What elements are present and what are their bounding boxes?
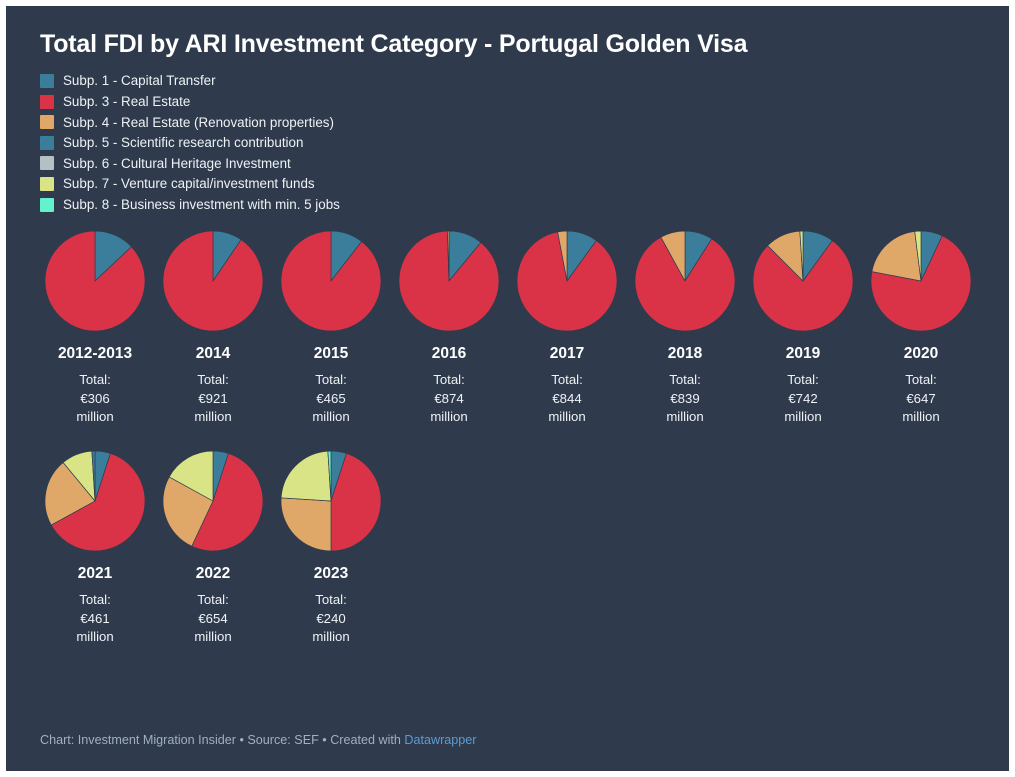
pie-year-label: 2015 [272,345,390,364]
pie-cell: 2017Total: €844 million [508,229,626,427]
pie-chart [397,229,501,333]
legend-label: Subp. 5 - Scientific research contributi… [63,136,303,149]
legend-swatch-icon [40,95,54,109]
pie-total-label: Total: €844 million [508,371,626,427]
pie-chart [633,229,737,333]
pie-year-label: 2019 [744,345,862,364]
pie-chart [161,449,265,553]
pie-year-label: 2018 [626,345,744,364]
pie-cell: 2018Total: €839 million [626,229,744,427]
footer-credit-text: Chart: Investment Migration Insider • So… [40,733,404,747]
legend-swatch-icon [40,74,54,88]
pie-total-label: Total: €647 million [862,371,980,427]
legend-label: Subp. 3 - Real Estate [63,95,190,108]
pie-cell: 2023Total: €240 million [272,449,390,647]
legend-swatch-icon [40,177,54,191]
pie-year-label: 2016 [390,345,508,364]
pie-total-label: Total: €306 million [36,371,154,427]
pie-cell: 2020Total: €647 million [862,229,980,427]
pie-cell: 2021Total: €461 million [36,449,154,647]
pie-slice[interactable] [163,231,263,331]
legend-label: Subp. 1 - Capital Transfer [63,74,216,87]
pie-total-label: Total: €465 million [272,371,390,427]
legend-label: Subp. 6 - Cultural Heritage Investment [63,157,291,170]
legend-item[interactable]: Subp. 3 - Real Estate [40,91,981,112]
legend-swatch-icon [40,115,54,129]
chart-legend: Subp. 1 - Capital TransferSubp. 3 - Real… [40,71,981,215]
chart-title: Total FDI by ARI Investment Category - P… [40,30,981,59]
pie-year-label: 2020 [862,345,980,364]
pie-total-label: Total: €874 million [390,371,508,427]
chart-footer: Chart: Investment Migration Insider • So… [40,733,477,747]
pie-slice[interactable] [281,498,331,551]
legend-label: Subp. 4 - Real Estate (Renovation proper… [63,116,334,129]
pie-chart [161,229,265,333]
pie-chart [43,449,147,553]
pie-year-label: 2023 [272,565,390,584]
datawrapper-link[interactable]: Datawrapper [404,733,476,747]
pie-total-label: Total: €240 million [272,591,390,647]
pie-year-label: 2014 [154,345,272,364]
legend-swatch-icon [40,198,54,212]
pie-total-label: Total: €921 million [154,371,272,427]
pie-cell: 2022Total: €654 million [154,449,272,647]
pie-cell: 2012-2013Total: €306 million [36,229,154,427]
legend-item[interactable]: Subp. 4 - Real Estate (Renovation proper… [40,112,981,133]
pie-cell: 2014Total: €921 million [154,229,272,427]
pie-chart [43,229,147,333]
pie-year-label: 2017 [508,345,626,364]
pie-total-label: Total: €461 million [36,591,154,647]
legend-item[interactable]: Subp. 1 - Capital Transfer [40,71,981,92]
pie-chart [515,229,619,333]
legend-item[interactable]: Subp. 7 - Venture capital/investment fun… [40,174,981,195]
pie-cell: 2016Total: €874 million [390,229,508,427]
legend-label: Subp. 7 - Venture capital/investment fun… [63,177,315,190]
pie-chart [869,229,973,333]
legend-swatch-icon [40,136,54,150]
pie-grid: 2012-2013Total: €306 million2014Total: €… [36,229,981,647]
pie-row-2: 2021Total: €461 million2022Total: €654 m… [36,449,981,647]
pie-row-1: 2012-2013Total: €306 million2014Total: €… [36,229,981,427]
legend-item[interactable]: Subp. 6 - Cultural Heritage Investment [40,153,981,174]
pie-year-label: 2012-2013 [36,345,154,364]
pie-total-label: Total: €654 million [154,591,272,647]
pie-chart [279,449,383,553]
pie-year-label: 2021 [36,565,154,584]
pie-chart [751,229,855,333]
pie-total-label: Total: €839 million [626,371,744,427]
chart-container: Total FDI by ARI Investment Category - P… [0,0,1015,777]
legend-label: Subp. 8 - Business investment with min. … [63,198,340,211]
pie-cell: 2015Total: €465 million [272,229,390,427]
pie-slice[interactable] [281,231,381,331]
pie-chart [279,229,383,333]
pie-year-label: 2022 [154,565,272,584]
pie-slice[interactable] [281,451,331,501]
pie-cell: 2019Total: €742 million [744,229,862,427]
legend-swatch-icon [40,156,54,170]
legend-item[interactable]: Subp. 5 - Scientific research contributi… [40,133,981,154]
legend-item[interactable]: Subp. 8 - Business investment with min. … [40,194,981,215]
pie-total-label: Total: €742 million [744,371,862,427]
